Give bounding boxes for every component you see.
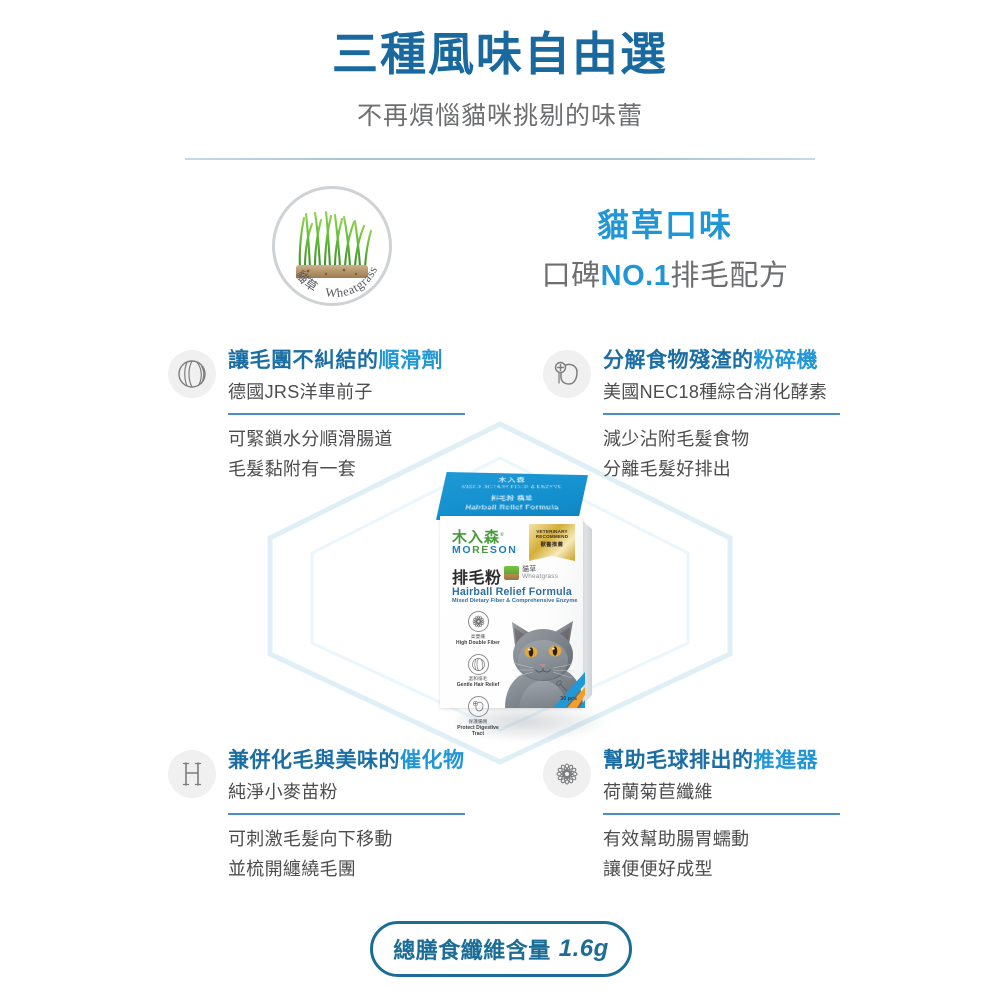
feature-subtitle: 美國NEC18種綜合消化酵素 [603,378,883,404]
wheatgrass-badge: 貓草 Wheatgrass [272,186,392,306]
vet-line-2: RECOMMEND [536,534,568,539]
chicory-fiber-icon [543,750,591,798]
fiber-content-badge: 總膳食纖維含量 1.6g [370,921,632,977]
package-front-panel: 木入森® MORESON VETERINARY RECOMMEND 獸醫推薦 排… [440,516,583,708]
hair-relief-icon [468,654,489,675]
package-feature-en: Protect Digestive Tract [452,725,504,737]
feature-divider [603,813,840,815]
product-package: 木入森 MIXED DIETARY FIBER & ENZYME 排毛粉 貓草 … [418,470,610,745]
claim-prefix: 口碑 [542,260,601,292]
svg-text:貓草: 貓草 [293,268,321,295]
package-top-text: 木入森 MIXED DIETARY FIBER & ENZYME 排毛粉 貓草 … [422,476,603,515]
starburst-fiber-icon [468,611,489,632]
page-title: 三種風味自由選 [0,26,1000,84]
feature-divider [228,413,465,415]
package-feature-item: 保護腸胃 Protect Digestive Tract [452,696,504,737]
feature-body: 兼併化毛與美味的催化物 純淨小麥苗粉 可刺激毛髮向下移動 並梳開纏繞毛團 [228,748,508,884]
feature-title: 幫助毛球排出的推進器 [603,748,883,773]
fiber-amount: 1.6g [559,935,609,963]
flavor-section: 貓草 Wheatgrass 貓草口味 口碑NO.1排毛配方 [0,186,1000,306]
feature-detail-2: 分離毛髮好排出 [603,456,883,484]
package-feature-item: 溫和排毛 Gentle Hair Relief [452,654,504,689]
claim-highlight: NO.1 [601,260,671,292]
feature-detail-2: 讓便便好成型 [603,856,883,884]
digestive-icon [468,696,489,717]
feature-title: 讓毛團不糾結的順滑劑 [228,348,508,373]
flavor-text-group: 貓草口味 口碑NO.1排毛配方 [500,200,830,294]
vet-line-3: 獸醫推薦 [541,541,564,548]
top-tagline: MIXED DIETARY FIBER & ENZYME [431,485,593,490]
veterinary-recommend-badge: VETERINARY RECOMMEND 獸醫推薦 [529,524,575,561]
brand-logo-en: MORESON [452,544,517,556]
package-feature-en: High Double Fiber [452,640,504,646]
top-product-cn: 排毛粉 貓草 [426,493,597,502]
package-count: 30 pcs [560,696,577,702]
header-divider [185,158,815,160]
feature-card-psyllium: 讓毛團不糾結的順滑劑 德國JRS洋車前子 可緊鎖水分順滑腸道 毛髮黏附有一套 [168,348,508,484]
top-brand: 木入森 [433,476,591,484]
feature-title: 分解食物殘渣的粉碎機 [603,348,883,373]
feature-divider [228,813,465,815]
feature-subtitle: 德國JRS洋車前子 [228,378,508,404]
feature-body: 讓毛團不糾結的順滑劑 德國JRS洋車前子 可緊鎖水分順滑腸道 毛髮黏附有一套 [228,348,508,484]
badge-text-cn: 貓草 [293,268,321,295]
feature-detail-1: 有效幫助腸胃蠕動 [603,826,883,854]
wheat-sprout-icon [168,750,216,798]
flavor-name: 貓草口味 [500,200,830,246]
wheatgrass-chip-icon [504,566,519,580]
product-name-en-sub: Mixed Dietary Fiber & Comprehensive Enzy… [452,598,578,604]
flavor-claim: 口碑NO.1排毛配方 [500,252,830,294]
package-feature-en: Gentle Hair Relief [452,682,504,688]
fiber-ball-icon [168,350,216,398]
product-name-en: Hairball Relief Formula [452,586,572,598]
feature-body: 幫助毛球排出的推進器 荷蘭菊苣纖維 有效幫助腸胃蠕動 讓便便好成型 [603,748,883,884]
package-feature-list: 高雙纖 High Double Fiber 溫和排毛 Gentle Hair R… [452,611,504,745]
badge-text-en: Wheatgrass [325,264,381,301]
claim-suffix: 排毛配方 [670,260,788,292]
feature-body: 分解食物殘渣的粉碎機 美國NEC18種綜合消化酵素 減少沾附毛髮食物 分離毛髮好… [603,348,883,484]
feature-card-chicory: 幫助毛球排出的推進器 荷蘭菊苣纖維 有效幫助腸胃蠕動 讓便便好成型 [543,748,883,884]
feature-detail-1: 可緊鎖水分順滑腸道 [228,426,508,454]
feature-subtitle: 純淨小麥苗粉 [228,778,508,804]
feature-divider [603,413,840,415]
product-name-cn: 排毛粉 [452,564,502,588]
measuring-spoon-icon [555,679,569,693]
product-flavor-en: Wheatgrass [522,573,558,580]
package-feature-item: 高雙纖 High Double Fiber [452,611,504,646]
top-product-en: Hairball Relief Formula [423,505,601,512]
feature-subtitle: 荷蘭菊苣纖維 [603,778,883,804]
feature-detail-2: 並梳開纏繞毛團 [228,856,508,884]
page-header: 三種風味自由選 不再煩惱貓咪挑剔的味蕾 [0,26,1000,132]
fiber-label: 總膳食纖維含量 [393,933,551,965]
feature-detail-1: 可刺激毛髮向下移動 [228,826,508,854]
feature-card-wheatsprout: 兼併化毛與美味的催化物 純淨小麥苗粉 可刺激毛髮向下移動 並梳開纏繞毛團 [168,748,508,884]
svg-text:Wheatgrass: Wheatgrass [325,264,381,301]
badge-curved-label: 貓草 Wheatgrass [275,189,392,306]
page-subtitle: 不再煩惱貓咪挑剔的味蕾 [0,96,1000,132]
feature-title: 兼併化毛與美味的催化物 [228,748,508,773]
stomach-plus-icon [543,350,591,398]
product-marketing-page: 三種風味自由選 不再煩惱貓咪挑剔的味蕾 [0,0,1000,1000]
feature-card-enzyme: 分解食物殘渣的粉碎機 美國NEC18種綜合消化酵素 減少沾附毛髮食物 分離毛髮好… [543,348,883,484]
feature-detail-1: 減少沾附毛髮食物 [603,426,883,454]
